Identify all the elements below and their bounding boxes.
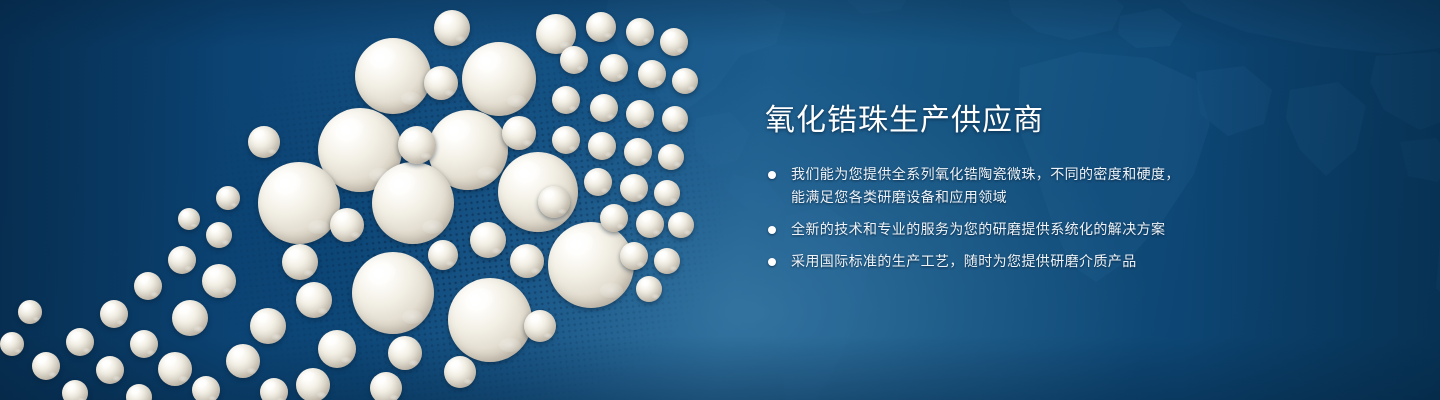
bullet-dot-icon <box>768 226 776 234</box>
bullet-item-3: 采用国际标准的生产工艺，随时为您提供研磨介质产品 <box>765 250 1385 273</box>
bullet-dot-icon <box>768 171 776 179</box>
banner-bullet-list: 我们能为您提供全系列氧化锆陶瓷微珠，不同的密度和硬度， 能满足您各类研磨设备和应… <box>765 163 1385 273</box>
bullet-text-line: 能满足您各类研磨设备和应用领域 <box>791 186 1385 209</box>
product-banner: 氧化锆珠生产供应商 我们能为您提供全系列氧化锆陶瓷微珠，不同的密度和硬度， 能满… <box>0 0 1440 400</box>
bullet-text-line: 全新的技术和专业的服务为您的研磨提供系统化的解决方案 <box>791 218 1385 241</box>
bullet-text-line: 我们能为您提供全系列氧化锆陶瓷微珠，不同的密度和硬度， <box>791 163 1385 186</box>
bullet-text-line: 采用国际标准的生产工艺，随时为您提供研磨介质产品 <box>791 250 1385 273</box>
bullet-item-1: 我们能为您提供全系列氧化锆陶瓷微珠，不同的密度和硬度， 能满足您各类研磨设备和应… <box>765 163 1385 209</box>
banner-copy: 氧化锆珠生产供应商 我们能为您提供全系列氧化锆陶瓷微珠，不同的密度和硬度， 能满… <box>765 104 1385 273</box>
banner-headline: 氧化锆珠生产供应商 <box>765 104 1385 137</box>
bullet-dot-icon <box>768 258 776 266</box>
bullet-item-2: 全新的技术和专业的服务为您的研磨提供系统化的解决方案 <box>765 218 1385 241</box>
